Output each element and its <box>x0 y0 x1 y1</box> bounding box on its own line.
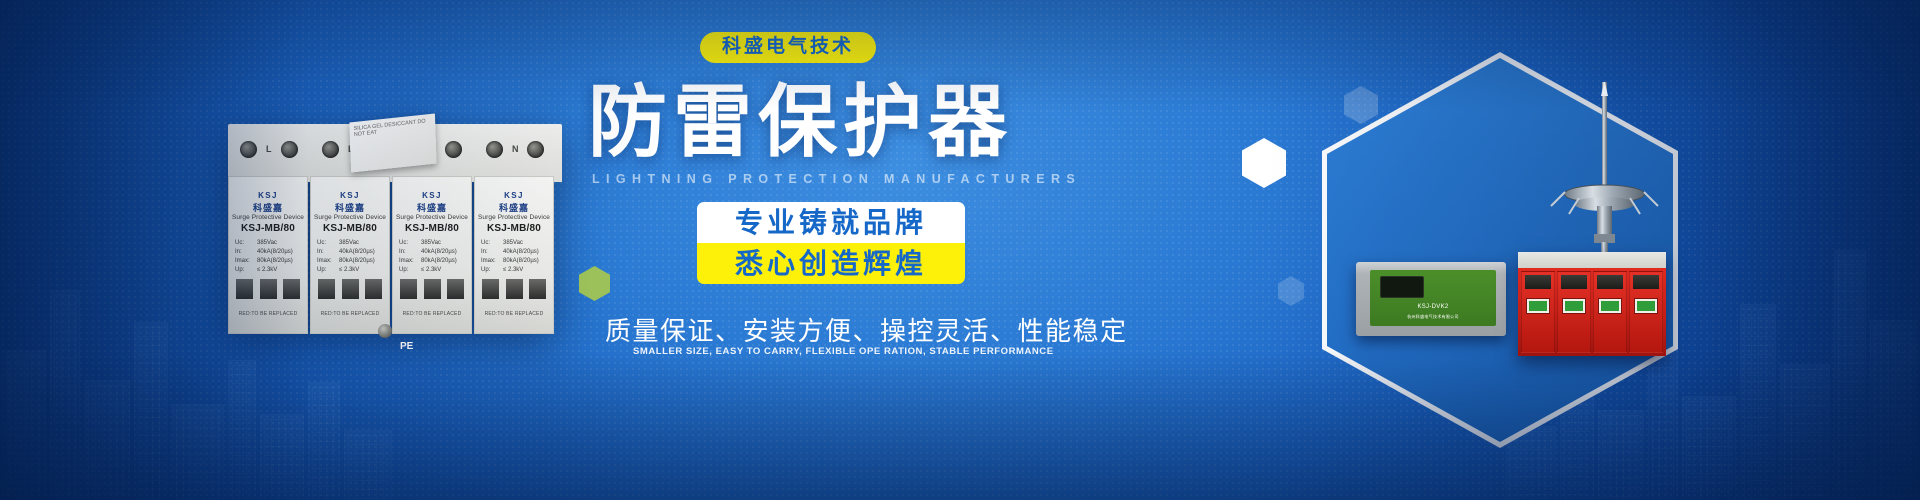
promo-banner: L KSJ 科盛嘉 Surge Protective Device KSJ-MB… <box>0 0 1920 500</box>
red-spd-product-image <box>1518 252 1666 356</box>
red-spd-pole <box>1629 271 1663 353</box>
lightning-rod-product-image <box>1545 82 1665 272</box>
red-spd-pole <box>1521 271 1555 353</box>
module-model-label: KSJ-DVK2 <box>1370 304 1496 310</box>
red-spd-pole <box>1557 271 1591 353</box>
red-spd-pole <box>1593 271 1627 353</box>
module-maker-label: 杭州科盛电气技术有限公司 <box>1370 314 1496 320</box>
module-lcd-screen <box>1380 276 1424 298</box>
monitoring-module-product-image: KSJ-DVK2 杭州科盛电气技术有限公司 <box>1356 262 1506 336</box>
